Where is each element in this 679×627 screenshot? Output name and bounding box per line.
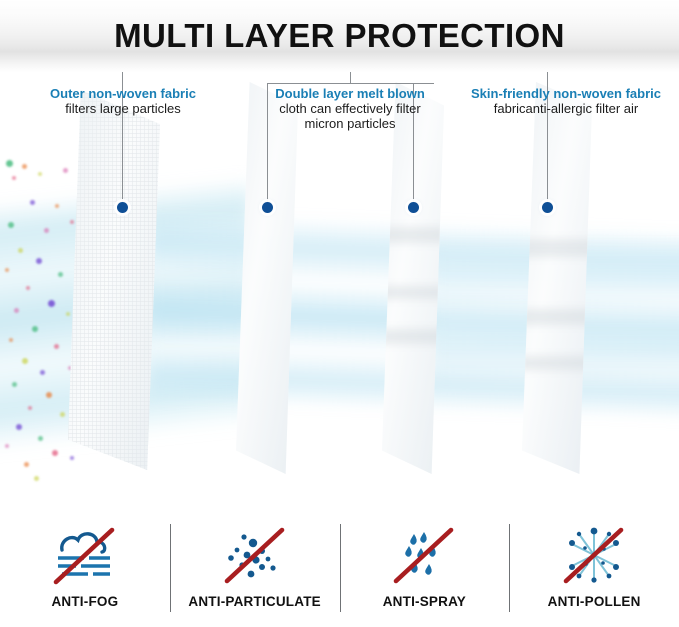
page-title: MULTI LAYER PROTECTION xyxy=(114,17,565,55)
contaminant-particle xyxy=(36,258,42,264)
contaminant-particle xyxy=(18,248,23,253)
contaminant-particle xyxy=(24,462,29,467)
feature-anti-particulate[interactable]: ANTI-PARTICULATE xyxy=(170,512,340,627)
contaminant-particle xyxy=(44,228,49,233)
contaminant-particle xyxy=(8,222,14,228)
contaminant-particle xyxy=(26,286,30,290)
contaminant-particle xyxy=(5,268,9,272)
layer-outer-non-woven xyxy=(68,90,160,470)
title-banner: MULTI LAYER PROTECTION xyxy=(0,0,679,72)
sheet-fold-band xyxy=(380,286,447,299)
contaminant-particle xyxy=(63,168,68,173)
connector-dot-melt-blown-left xyxy=(262,202,273,213)
callout-subtext: filters large particles xyxy=(18,101,228,116)
connector-dot-melt-blown-right xyxy=(408,202,419,213)
sheet-fold-band xyxy=(519,309,595,325)
callout-subtext-line-2: micron particles xyxy=(252,116,448,131)
contaminant-particle xyxy=(5,444,9,448)
contaminant-particle xyxy=(12,176,16,180)
sheet-fold-band xyxy=(519,239,595,257)
contaminant-particle xyxy=(16,424,22,430)
sheet-fold-band xyxy=(519,356,595,370)
contaminant-particle xyxy=(22,358,28,364)
connector-stem-melt-blown xyxy=(350,72,351,83)
callout-heading: Double layer melt blown xyxy=(252,86,448,101)
sheet-fold-band xyxy=(380,227,447,243)
layer-skin-friendly-non-woven xyxy=(522,82,592,474)
contaminant-particle xyxy=(6,160,13,167)
feature-anti-pollen[interactable]: ANTI-POLLEN xyxy=(509,512,679,627)
sheet-shading xyxy=(68,90,160,470)
feature-label: ANTI-SPRAY xyxy=(383,594,466,609)
connector-dot-skin-friendly xyxy=(542,202,553,213)
particles-icon xyxy=(218,524,292,586)
contaminant-particle xyxy=(34,476,39,481)
contaminant-particle xyxy=(40,370,45,375)
connector-dot-outer xyxy=(117,202,128,213)
callout-skin-friendly-layer: Skin-friendly non-woven fabric fabricant… xyxy=(452,86,679,116)
contaminant-particle xyxy=(38,172,42,176)
contaminant-particle xyxy=(54,344,59,349)
callout-outer-layer: Outer non-woven fabric filters large par… xyxy=(18,86,228,116)
feature-strip: ANTI-FOG xyxy=(0,512,679,627)
contaminant-particle xyxy=(46,392,52,398)
contaminant-particle xyxy=(66,312,70,316)
pollen-burst-icon xyxy=(557,524,631,586)
callout-heading: Skin-friendly non-woven fabric xyxy=(452,86,679,101)
feature-label: ANTI-PARTICULATE xyxy=(188,594,320,609)
contaminant-particle xyxy=(55,204,59,208)
feature-anti-fog[interactable]: ANTI-FOG xyxy=(0,512,170,627)
contaminant-particle xyxy=(70,456,74,460)
contaminant-particle xyxy=(38,436,43,441)
callout-heading: Outer non-woven fabric xyxy=(18,86,228,101)
contaminant-particle xyxy=(60,412,65,417)
contaminant-particle xyxy=(52,450,58,456)
callout-subtext: fabricanti-allergic filter air xyxy=(452,101,679,116)
contaminant-particle xyxy=(58,272,63,277)
feature-label: ANTI-FOG xyxy=(51,594,118,609)
feature-anti-spray[interactable]: ANTI-SPRAY xyxy=(340,512,510,627)
sheet-shading xyxy=(522,82,592,474)
sheet-fold-band xyxy=(380,329,447,344)
contaminant-particle xyxy=(32,326,38,332)
mask-layers-illustration xyxy=(0,72,679,512)
contaminant-particle xyxy=(22,164,27,169)
feature-label: ANTI-POLLEN xyxy=(548,594,641,609)
contaminant-particle xyxy=(48,300,55,307)
contaminant-particle xyxy=(14,308,19,313)
droplets-icon xyxy=(387,524,461,586)
contaminant-particle xyxy=(70,220,74,224)
callout-melt-blown-layers: Double layer melt blown cloth can effect… xyxy=(252,86,448,131)
connector-bracket-melt-blown xyxy=(267,83,434,84)
contaminant-particle xyxy=(28,406,32,410)
contaminant-particle xyxy=(30,200,35,205)
contaminant-particle xyxy=(12,382,17,387)
callout-subtext-line-1: cloth can effectively filter xyxy=(252,101,448,116)
fog-cloud-icon xyxy=(48,524,122,586)
contaminant-particle xyxy=(9,338,13,342)
